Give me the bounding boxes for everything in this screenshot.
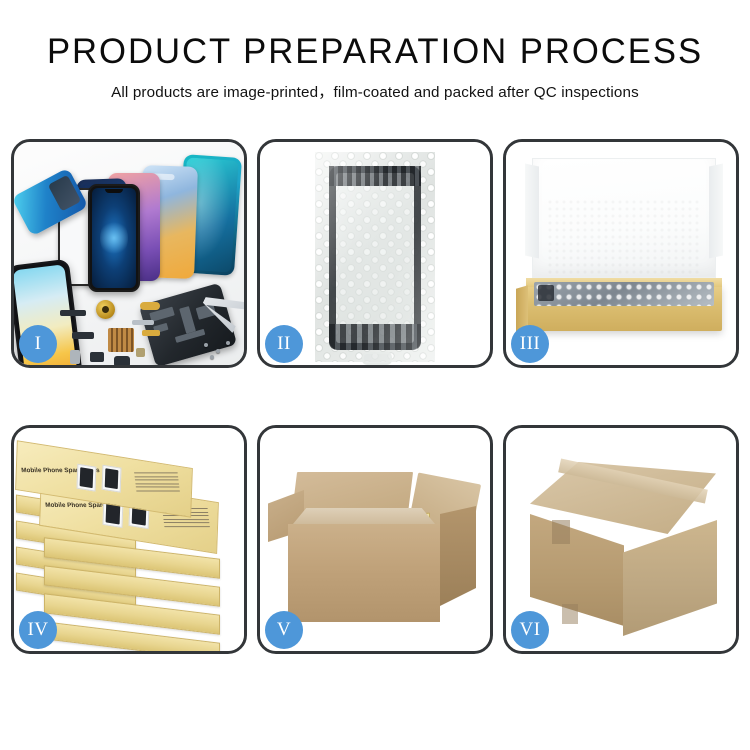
carton-front-face [288, 524, 440, 622]
silver-connector-part [132, 320, 154, 325]
step-panel-2: II [257, 139, 493, 368]
step-panel-1: I [11, 139, 247, 368]
step-panel-5: V [257, 425, 493, 654]
phone-notch [105, 189, 123, 193]
step-badge-1: I [19, 325, 57, 363]
step-badge-3: III [511, 325, 549, 363]
product-preparation-process-page: PRODUCT PREPARATION PROCESS All products… [0, 0, 750, 750]
foam-insert [547, 199, 701, 277]
chip-grid-part [108, 328, 134, 352]
step-panel-6: VI [503, 425, 739, 654]
gold-connector-part [140, 302, 160, 310]
speaker-mesh-part [90, 352, 104, 362]
screen-bottom-bezel [329, 324, 421, 350]
step-badge-2: II [265, 325, 303, 363]
screws-group [202, 341, 236, 361]
camera-module-part [114, 356, 130, 365]
page-header: PRODUCT PREPARATION PROCESS All products… [0, 0, 750, 102]
step-badge-6: VI [511, 611, 549, 649]
vibrator-part [136, 348, 145, 357]
step-badge-5: V [265, 611, 303, 649]
process-steps-grid: I II [11, 139, 739, 684]
page-subtitle: All products are image-printed，film-coat… [0, 80, 750, 102]
screen-outline [329, 166, 421, 350]
button-flex-part [72, 332, 94, 339]
flex-cable-part [60, 310, 86, 316]
bubble-wrapped-screen [315, 152, 435, 362]
step-panel-4: Mobile Phone Spare Parts Mobile Phone Sp… [11, 425, 247, 654]
step-badge-4: IV [19, 611, 57, 649]
wrapped-screen-in-box [534, 282, 714, 306]
speaker-coil-part [96, 300, 115, 319]
page-title: PRODUCT PREPARATION PROCESS [4, 34, 747, 71]
box-screen-art [102, 465, 122, 493]
white-box-lid [532, 158, 716, 278]
antenna-flex-part [142, 330, 160, 336]
kraft-inner-box [526, 285, 722, 331]
box-spec-lines [134, 472, 180, 494]
box-screen-art [77, 464, 97, 492]
tape-tab [552, 520, 570, 544]
step-panel-3: III [503, 139, 739, 368]
tape-tab [562, 604, 578, 624]
phone-front-black-screen [88, 184, 140, 292]
sim-tray-part [70, 350, 80, 364]
